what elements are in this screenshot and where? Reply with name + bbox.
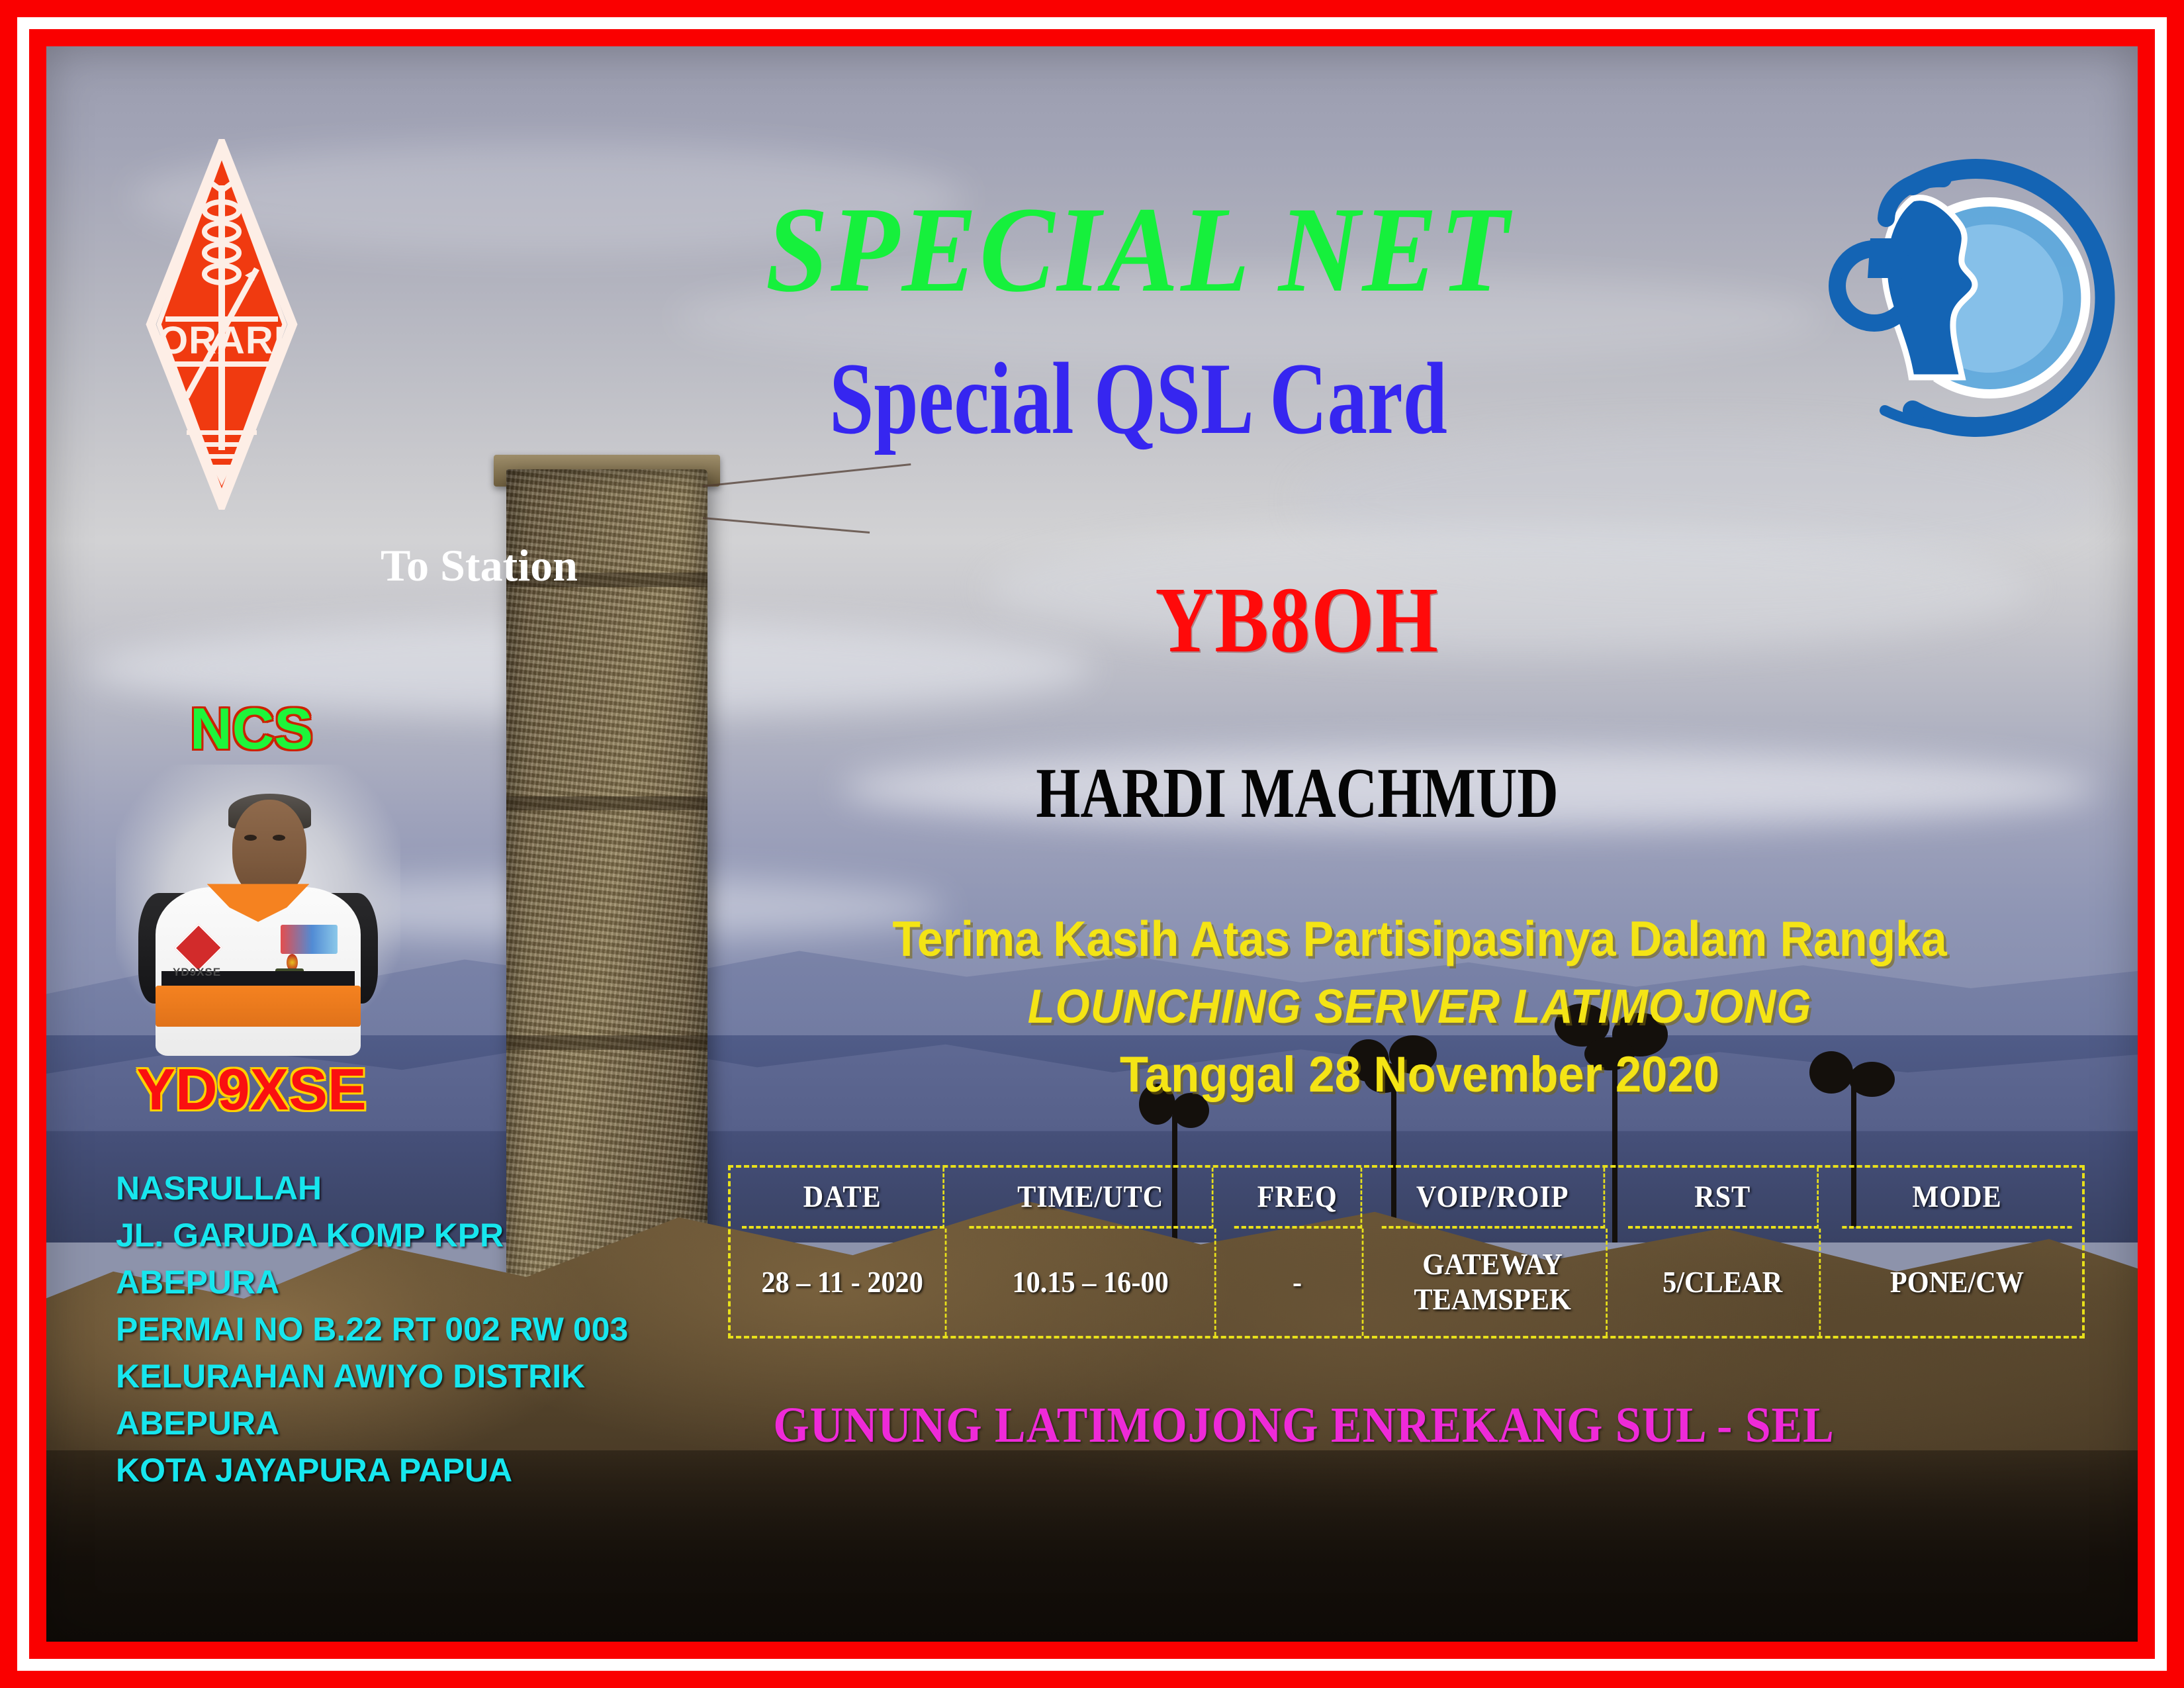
qsl-card: ORARI: [0, 0, 2184, 1688]
table-header-cell: VOIP/ROIP: [1382, 1168, 1606, 1229]
operator-name: HARDI MACHMUD: [889, 758, 1705, 829]
avatar-head: [232, 800, 306, 899]
ncs-operator-photo: YD9XSE: [116, 765, 400, 1056]
card-photo-area: ORARI: [46, 46, 2138, 1642]
address-line: ABEPURA: [116, 1259, 764, 1306]
svg-text:ORARI: ORARI: [158, 319, 285, 362]
uniform-callsign-text: YD9XSE: [173, 966, 221, 979]
page-subtitle: Special QSL Card: [287, 348, 1990, 450]
ncs-label: NCS: [113, 695, 390, 763]
monument-band: [506, 796, 707, 811]
address-line: NASRULLAH: [116, 1165, 764, 1212]
website-address: Address : amatir.latimojong.com: [1310, 1632, 1978, 1642]
ncs-callsign: YD9XSE: [93, 1056, 410, 1123]
to-station-label: To Station: [381, 539, 578, 592]
motto-text: "AMATIR RADIO ADALAH PROGRESIVE": [122, 1632, 1081, 1642]
event-line-1: Terima Kasih Atas Partisipasinya Dalam R…: [819, 910, 2020, 967]
address-line: PERMAI NO B.22 RT 002 RW 003: [116, 1306, 764, 1353]
table-row: 28 – 11 - 2020: [740, 1229, 947, 1336]
event-line-3: Tanggal 28 November 2020: [819, 1046, 2020, 1103]
avatar-sash: [156, 986, 361, 1027]
table-row: 10.15 – 16-00: [966, 1229, 1216, 1336]
table-row: 5/CLEAR: [1626, 1229, 1821, 1336]
monument-band: [506, 1035, 707, 1050]
station-callsign: YB8OH: [962, 573, 1633, 667]
table-header-cell: MODE: [1842, 1168, 2071, 1229]
table-header-cell: FREQ: [1234, 1168, 1363, 1229]
station-address: NASRULLAH JL. GARUDA KOMP KPR ABEPURA PE…: [116, 1165, 764, 1494]
avatar-eye: [244, 835, 257, 841]
address-line: ABEPURA: [116, 1400, 764, 1447]
table-row: -: [1233, 1229, 1364, 1336]
address-line: KELURAHAN AWIYO DISTRIK: [116, 1353, 764, 1400]
address-line: KOTA JAYAPURA PAPUA: [116, 1447, 764, 1494]
table-header-cell: RST: [1628, 1168, 1819, 1229]
table-row: PONE/CW: [1839, 1229, 2074, 1336]
location-line: GUNUNG LATIMOJONG ENREKANG SUL - SEL: [695, 1397, 1913, 1454]
qso-details-table: DATE TIME/UTC FREQ VOIP/ROIP RST MODE 28…: [728, 1165, 2085, 1338]
table-header-cell: DATE: [742, 1168, 944, 1229]
page-title: SPECIAL NET: [134, 189, 2138, 311]
uniform-logo-patch: [281, 925, 338, 954]
event-line-2: LOUNCHING SERVER LATIMOJONG: [819, 980, 2020, 1034]
table-row: GATEWAY TEAMSPEK: [1379, 1229, 1608, 1336]
card-red-border: ORARI: [29, 29, 2155, 1659]
avatar-eye: [273, 835, 285, 841]
card-white-border: ORARI: [17, 17, 2167, 1671]
table-header-cell: TIME/UTC: [970, 1168, 1214, 1229]
address-line: JL. GARUDA KOMP KPR: [116, 1212, 764, 1259]
